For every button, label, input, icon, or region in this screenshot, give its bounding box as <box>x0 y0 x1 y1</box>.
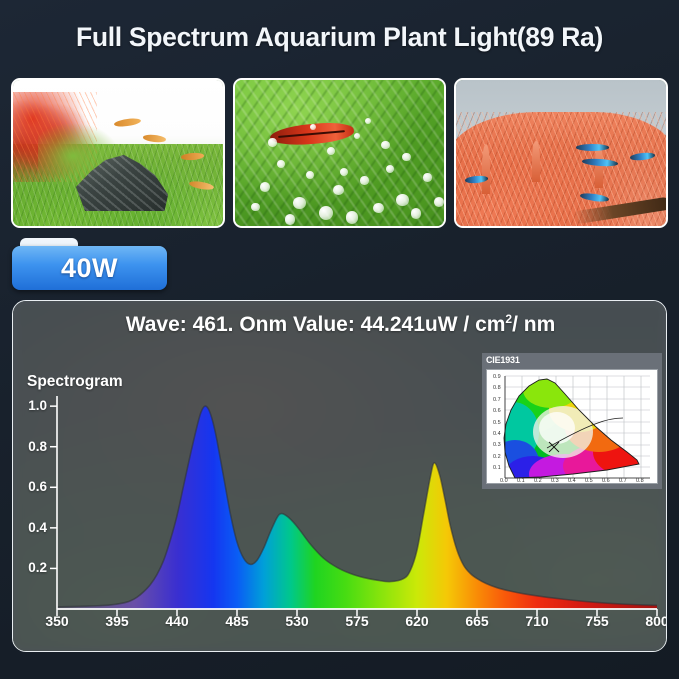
cie-x-tick-label: 0.2 <box>534 478 542 484</box>
cie-y-tick-label: 0.5 <box>493 420 501 426</box>
cie-x-tick-label: 0.8 <box>636 478 644 484</box>
cie-y-tick-label: 0.1 <box>493 465 501 471</box>
x-axis-tick-label: 800 <box>634 613 667 629</box>
cie1931-inset: CIE1931 <box>482 353 662 489</box>
cie1931-title: CIE1931 <box>486 355 520 365</box>
oxygen-bubble <box>285 214 295 224</box>
photo3-neon-tetra <box>576 144 610 151</box>
oxygen-bubble <box>251 203 259 211</box>
x-axis-tick-label: 440 <box>154 613 200 629</box>
photo-green-plants-with-oxygen-bubbles <box>233 78 447 228</box>
y-axis-tick-label: 1.0 <box>13 398 47 413</box>
oxygen-bubble <box>340 168 348 176</box>
oxygen-bubble <box>360 176 368 184</box>
x-axis-tick-label: 620 <box>394 613 440 629</box>
cie-x-tick-label: 0.3 <box>551 478 559 484</box>
x-axis-tick-label: 485 <box>214 613 260 629</box>
y-axis-tick-label: 0.6 <box>13 479 47 494</box>
cie-y-tick-label: 0.8 <box>493 385 501 391</box>
y-axis-ticks <box>50 406 57 568</box>
badge-label: 40W <box>12 246 167 290</box>
photo3-plant-spike <box>482 144 490 194</box>
cie-y-tick-label: 0.9 <box>493 374 501 380</box>
photo2-background <box>235 80 445 226</box>
x-axis-tick-label: 575 <box>334 613 380 629</box>
page-title: Full Spectrum Aquarium Plant Light(89 Ra… <box>0 22 679 53</box>
oxygen-bubble <box>386 165 394 173</box>
cie-y-tick-label: 0.6 <box>493 408 501 414</box>
x-axis-tick-label: 755 <box>574 613 620 629</box>
cie-x-tick-label: 0.7 <box>619 478 627 484</box>
x-axis-tick-label: 530 <box>274 613 320 629</box>
oxygen-bubble <box>333 185 343 195</box>
product-infographic: Full Spectrum Aquarium Plant Light(89 Ra… <box>0 0 679 679</box>
oxygen-bubble <box>346 211 359 223</box>
oxygen-bubble <box>396 194 409 206</box>
cie-x-tick-label: 0.0 <box>500 478 508 484</box>
photo3-plant-spike <box>532 141 540 182</box>
x-axis-tick-label: 395 <box>94 613 140 629</box>
product-photo-strip <box>11 78 668 228</box>
cie-x-tick-label: 0.6 <box>602 478 610 484</box>
oxygen-bubble <box>306 171 314 179</box>
x-axis-tick-label: 710 <box>514 613 560 629</box>
oxygen-bubble <box>411 208 421 218</box>
y-axis-tick-label: 0.4 <box>13 520 47 535</box>
y-axis-tick-label: 0.8 <box>13 439 47 454</box>
oxygen-bubble <box>268 138 276 146</box>
spectrogram-panel: Wave: 461. Onm Value: 44.241uW / cm2/ nm… <box>12 300 667 652</box>
x-axis-tick-label: 350 <box>34 613 80 629</box>
cie1931-plot: 0.00.10.20.30.40.50.60.70.8 0.90.80.70.6… <box>486 369 658 484</box>
cie-y-tick-label: 0.3 <box>493 442 501 448</box>
oxygen-bubble <box>319 206 334 220</box>
photo-aquascape-with-rock-and-fish <box>11 78 225 228</box>
x-axis-tick-label: 665 <box>454 613 500 629</box>
cie-y-tick-label: 0.4 <box>493 431 501 437</box>
y-axis-tick-label: 0.2 <box>13 560 47 575</box>
oxygen-bubble <box>293 197 306 209</box>
photo3-plant-spike <box>595 144 603 188</box>
cie-x-tick-label: 0.4 <box>568 478 576 484</box>
cie-y-tick-label: 0.7 <box>493 397 501 403</box>
cie-x-tick-label: 0.1 <box>517 478 525 484</box>
cie-x-tick-label: 0.5 <box>585 478 593 484</box>
oxygen-bubble <box>423 173 431 181</box>
photo-red-plants-with-neon-tetras <box>454 78 668 228</box>
cie-y-tick-label: 0.2 <box>493 454 501 460</box>
oxygen-bubble <box>365 118 371 124</box>
oxygen-bubble <box>402 153 410 161</box>
wattage-badge: 40W <box>12 238 172 290</box>
oxygen-bubble <box>373 203 383 213</box>
